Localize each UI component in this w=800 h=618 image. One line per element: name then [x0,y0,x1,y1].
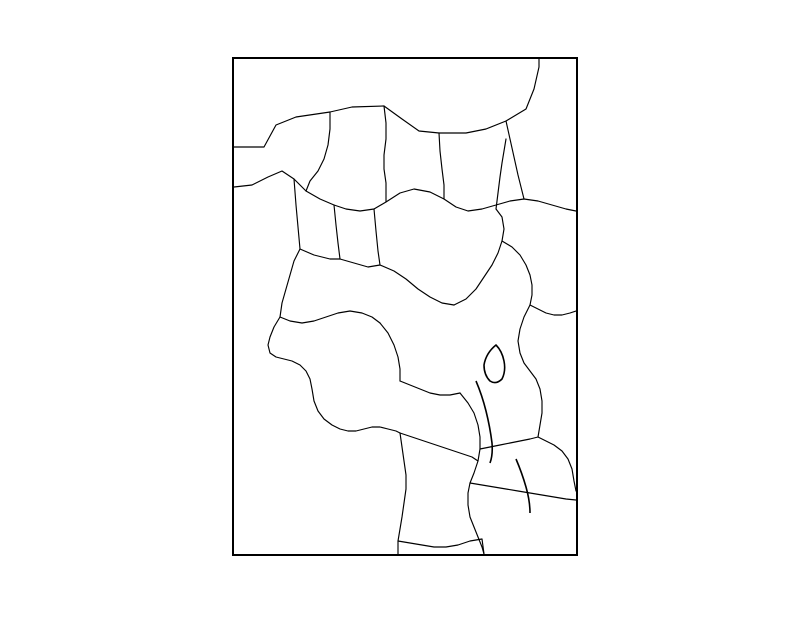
colorbar [671,57,697,556]
